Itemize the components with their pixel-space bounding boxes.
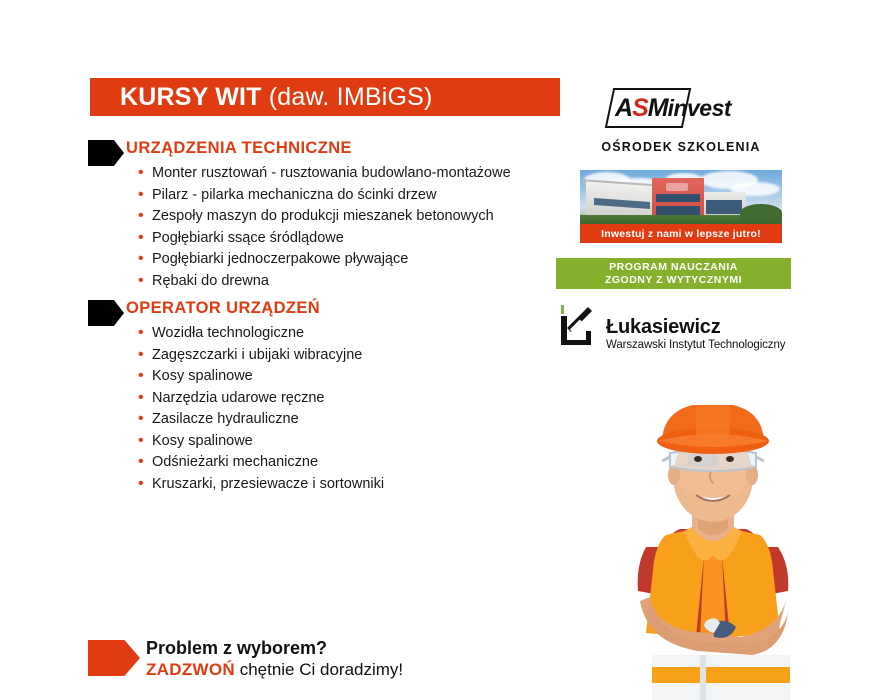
cta-arrow-icon — [88, 640, 140, 676]
cta-call-word: ZADZWOŃ — [146, 660, 235, 679]
building-promo-card: Inwestuj z nami w lepsze jutro! — [580, 170, 782, 243]
page-title-strong: KURSY WIT — [120, 83, 262, 111]
section-arrow-icon-2 — [88, 300, 124, 326]
course-list-1: Monter rusztowań - rusztowania budowlano… — [126, 163, 511, 292]
list-item[interactable]: Odśnieżarki mechaniczne — [138, 452, 384, 474]
asm-logo-mark-icon: ASMinvest — [609, 88, 753, 130]
building-window — [706, 200, 742, 214]
asm-invest-logo: ASMinvest OŚRODEK SZKOLENIA — [556, 88, 806, 154]
building-photo — [580, 170, 782, 224]
asm-letter-a: A — [615, 94, 632, 122]
list-item[interactable]: Wozidła technologiczne — [138, 323, 384, 345]
tree-decoration — [740, 204, 782, 222]
sidebar: ASMinvest OŚRODEK SZKOLENIA — [556, 88, 806, 154]
cta-block: Problem z wyborem? ZADZWOŃ chętnie Ci do… — [146, 637, 403, 681]
worker-photo — [600, 405, 865, 700]
section-title-2: OPERATOR URZĄDZEŃ — [126, 299, 384, 318]
program-banner-line1: PROGRAM NAUCZANIA — [609, 261, 738, 274]
asm-subtitle: OŚRODEK SZKOLENIA — [556, 140, 806, 154]
course-list-2: Wozidła technologiczne Zagęszczarki i ub… — [126, 323, 384, 495]
building-banner-text: Inwestuj z nami w lepsze jutro! — [601, 228, 761, 240]
lukasiewicz-institute: Warszawski Instytut Technologiczny — [606, 338, 785, 353]
asm-letter-m: M — [648, 94, 668, 122]
list-item[interactable]: Zespoły maszyn do produkcji mieszanek be… — [138, 206, 511, 228]
list-item[interactable]: Monter rusztowań - rusztowania budowlano… — [138, 163, 511, 185]
building-window — [656, 194, 700, 202]
list-item[interactable]: Kruszarki, przesiewacze i sortowniki — [138, 474, 384, 496]
list-item[interactable]: Rębaki do drewna — [138, 271, 511, 293]
asm-letter-s: S — [632, 94, 648, 122]
cta-action: ZADZWOŃ chętnie Ci doradzimy! — [146, 659, 403, 681]
section-urzadzenia-techniczne: URZĄDZENIA TECHNICZNE Monter rusztowań -… — [126, 139, 511, 292]
building-banner: Inwestuj z nami w lepsze jutro! — [580, 224, 782, 243]
list-item[interactable]: Pilarz - pilarka mechaniczna do ścinki d… — [138, 185, 511, 207]
list-item[interactable]: Kosy spalinowe — [138, 366, 384, 388]
asm-word-invest: invest — [668, 95, 731, 121]
list-item[interactable]: Pogłębiarki jednoczerpakowe pływające — [138, 249, 511, 271]
program-banner-line2: ZGODNY Z WYTYCZNYMI — [605, 274, 742, 287]
page-title-light: (daw. IMBiGS) — [262, 83, 433, 111]
list-item[interactable]: Kosy spalinowe — [138, 431, 384, 453]
header-bar: KURSY WIT (daw. IMBiGS) — [90, 78, 560, 116]
section-title-1: URZĄDZENIA TECHNICZNE — [126, 139, 511, 158]
list-item[interactable]: Zasilacze hydrauliczne — [138, 409, 384, 431]
cta-question: Problem z wyborem? — [146, 637, 403, 659]
building-facade-sign — [666, 183, 688, 191]
list-item[interactable]: Zagęszczarki i ubijaki wibracyjne — [138, 345, 384, 367]
list-item[interactable]: Pogłębiarki ssące śródlądowe — [138, 228, 511, 250]
lukasiewicz-mark-icon — [558, 304, 602, 348]
program-compliance-banner: PROGRAM NAUCZANIA ZGODNY Z WYTYCZNYMI — [556, 258, 791, 289]
cta-rest: chętnie Ci doradzimy! — [235, 660, 403, 679]
section-arrow-icon-1 — [88, 140, 124, 166]
section-operator-urzadzen: OPERATOR URZĄDZEŃ Wozidła technologiczne… — [126, 299, 384, 495]
asm-wordmark: ASMinvest — [615, 93, 731, 123]
list-item[interactable]: Narzędzia udarowe ręczne — [138, 388, 384, 410]
poster-canvas: KURSY WIT (daw. IMBiGS) URZĄDZENIA TECHN… — [0, 0, 871, 700]
lukasiewicz-name: Łukasiewicz — [606, 316, 785, 338]
lukasiewicz-text: Łukasiewicz Warszawski Instytut Technolo… — [606, 316, 785, 353]
page-title: KURSY WIT (daw. IMBiGS) — [120, 85, 433, 110]
